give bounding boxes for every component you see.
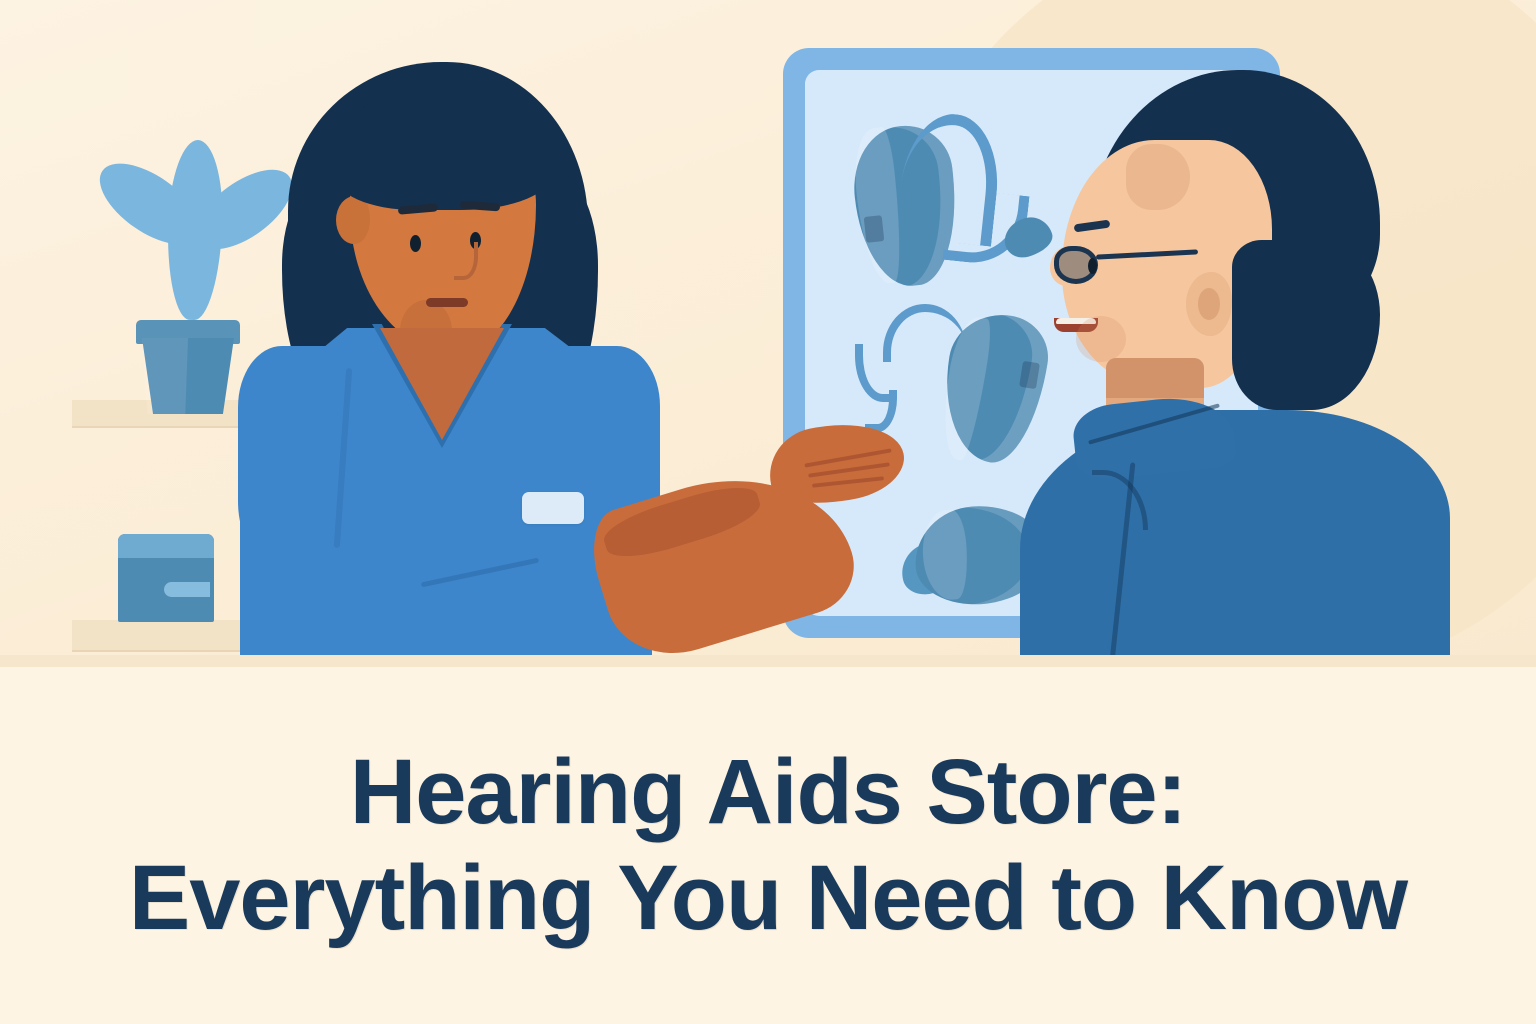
storage-box [118,534,214,622]
ric-thin-wire-lower [865,390,897,432]
scene-illustration [0,0,1536,667]
page-root: Hearing Aids Store: Everything You Need … [0,0,1536,1024]
audiologist-eye-left [410,235,421,252]
audiologist-ear [336,196,370,244]
storage-box-lid [118,534,214,558]
customer-eye [1088,258,1097,274]
storage-box-label-strip [164,582,210,597]
audiologist-name-badge [522,492,584,524]
customer-neck-shadow [1106,358,1204,398]
bte-battery-door [864,215,885,243]
page-title-line-1: Hearing Aids Store: [350,743,1186,842]
title-block: Hearing Aids Store: Everything You Need … [0,667,1536,1024]
audiologist-figure [230,50,750,667]
customer-hair-nape [1232,240,1380,410]
counter-edge [0,655,1536,667]
page-title-line-2: Everything You Need to Know [129,849,1407,948]
customer-forehead-shadow [1126,144,1190,210]
customer-ear-inner [1198,288,1220,320]
plant-pot-highlight [142,338,188,414]
customer-cheek-blush [1076,316,1126,362]
customer-figure [1020,70,1450,667]
audiologist-mouth [426,298,468,307]
